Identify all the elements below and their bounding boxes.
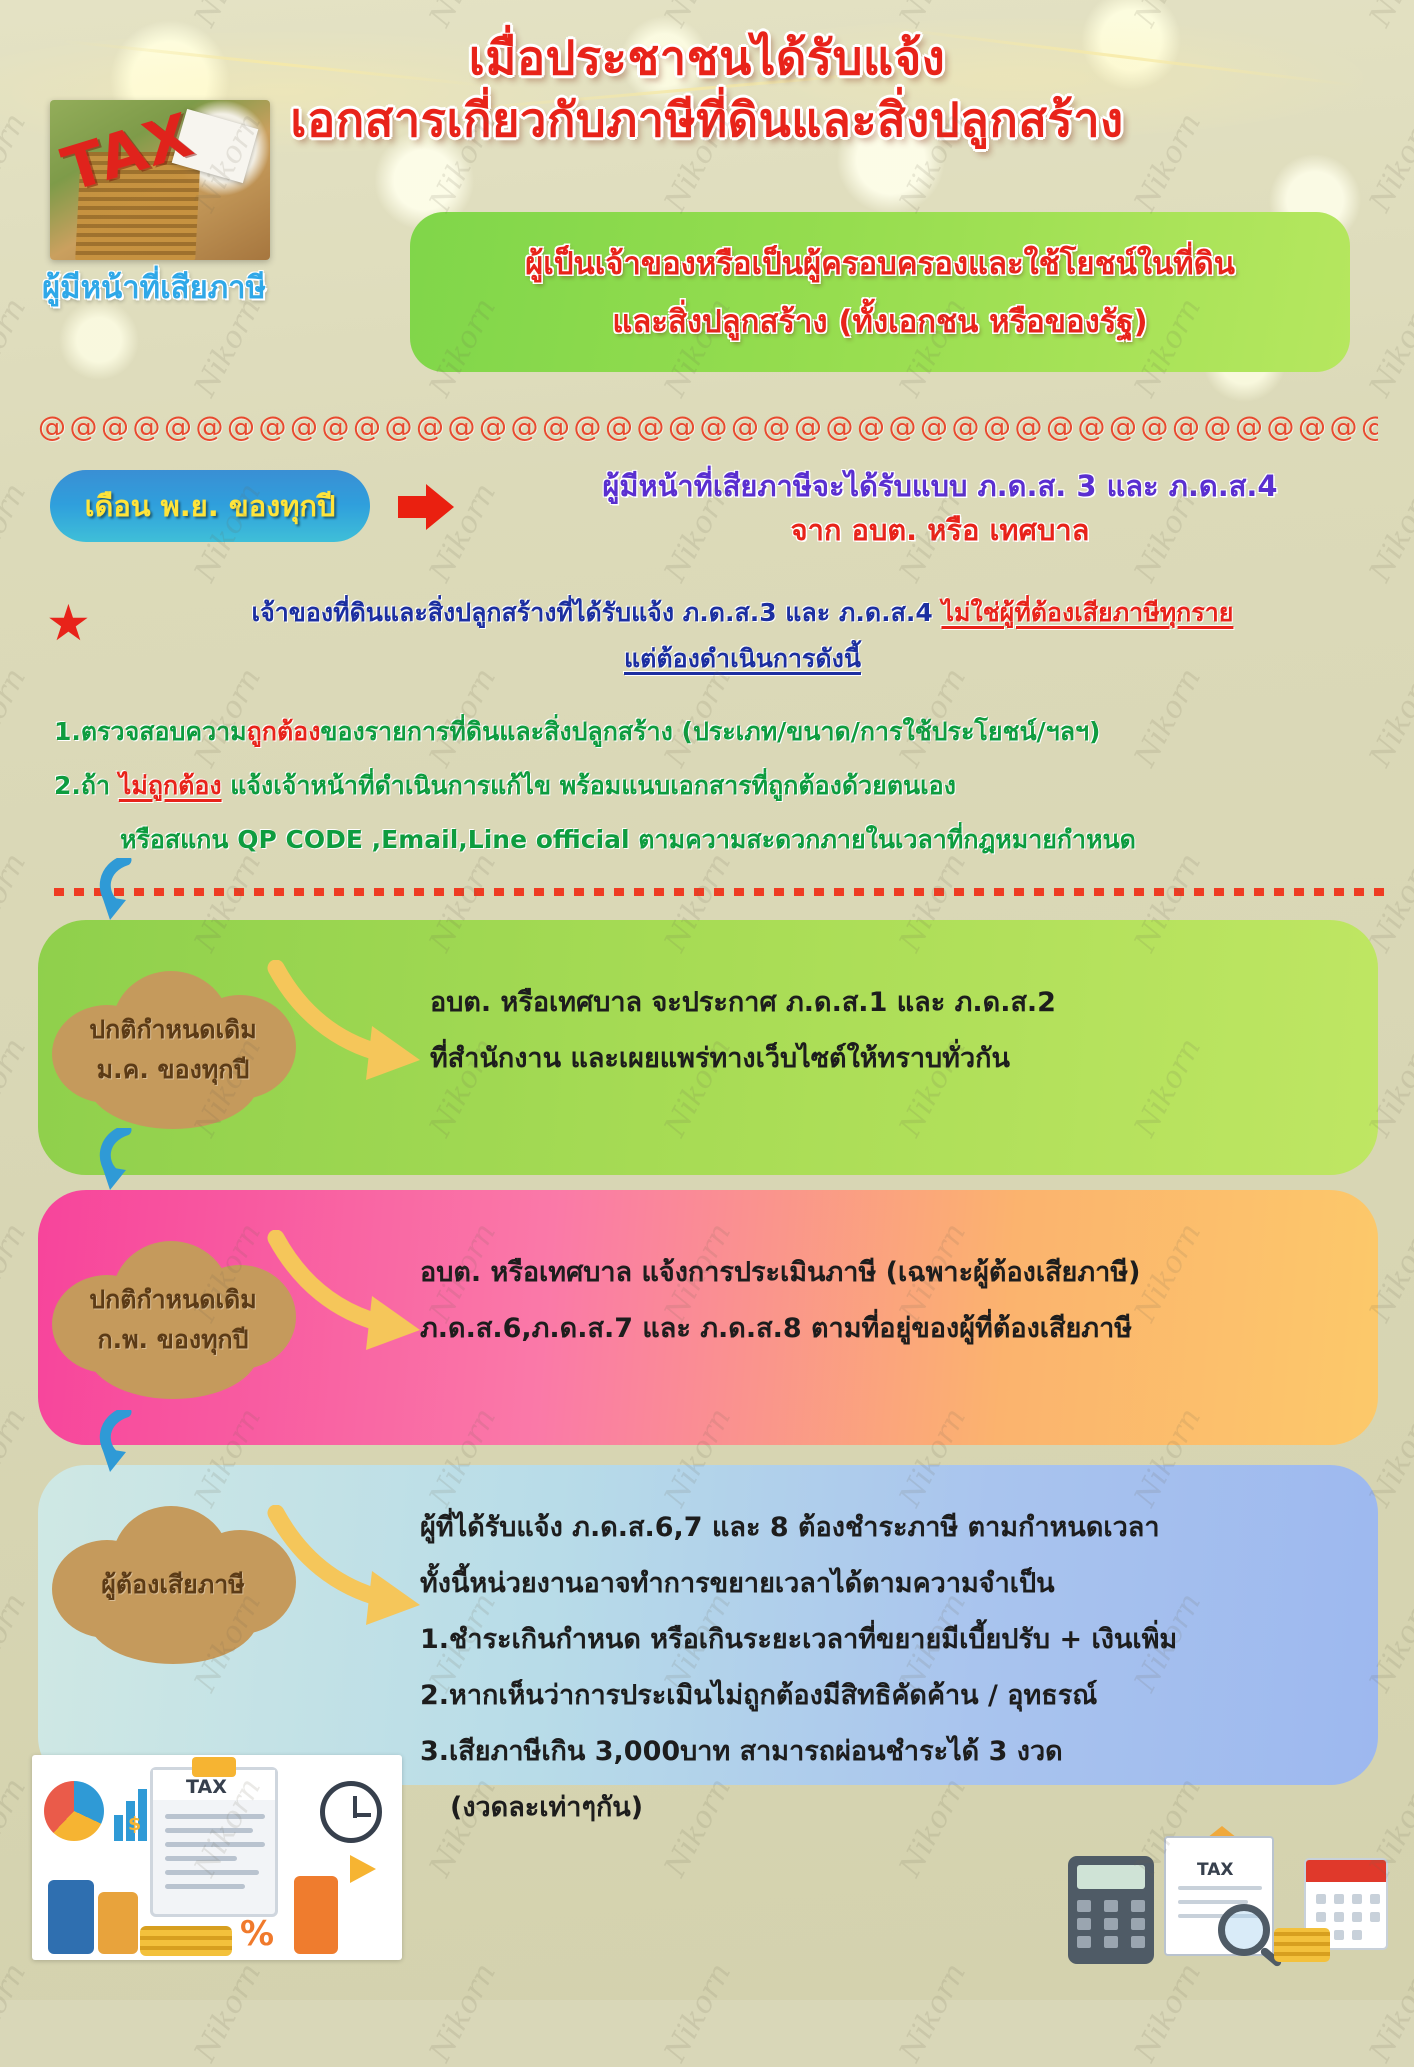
arrow-shaft: [398, 496, 428, 518]
panel-3-line-6: (งวดละเท่าๆกัน): [420, 1780, 1177, 1836]
month-badge: เดือน พ.ย. ของทุกปี: [50, 470, 370, 542]
tax-icon-cluster: TAX: [1068, 1780, 1388, 1970]
purple-notification-line: ผู้มีหน้าที่เสียภาษีจะได้รับแบบ ภ.ด.ส. 3…: [500, 464, 1380, 508]
item1-text-a: 1.ตรวจสอบความ: [54, 717, 247, 746]
blue-arrow-icon-2: [96, 1128, 150, 1194]
page-title-line-1: เมื่อประชาชนได้รับแจ้ง: [0, 28, 1414, 90]
month-badge-label: เดือน พ.ย. ของทุกปี: [85, 483, 336, 529]
person-graphic: [48, 1880, 94, 1954]
coin-pile-graphic: [140, 1926, 232, 1956]
process-panel-2-text: อบต. หรือเทศบาล แจ้งการประเมินภาษี (เฉพา…: [420, 1245, 1140, 1357]
star-icon: ★: [46, 598, 91, 648]
clipboard-tax-label: TAX: [186, 1776, 227, 1798]
percent-symbol: %: [240, 1914, 274, 1954]
panel-3-line-4: 2.หากเห็นว่าการประเมินไม่ถูกต้องมีสิทธิค…: [420, 1668, 1177, 1724]
panel-1-line-2: ที่สำนักงาน และเผยแพร่ทางเว็บไซต์ให้ทราบ…: [430, 1031, 1056, 1087]
pie-chart-graphic: [44, 1781, 104, 1841]
clipboard-graphic: TAX: [150, 1767, 278, 1917]
instruction-item-1: 1.ตรวจสอบความถูกต้องของรายการที่ดินและสิ…: [54, 706, 1100, 758]
calculator-screen: [1077, 1865, 1145, 1889]
cloud-2-line-1: ปกติกำหนดเดิม: [89, 1282, 256, 1318]
clipboard-line: [165, 1884, 245, 1889]
clipboard-line: [165, 1870, 259, 1875]
clipboard-line: [165, 1828, 253, 1833]
calendar-header: [1306, 1860, 1386, 1882]
cloud-2-line-2: ก.พ. ของทุกปี: [97, 1322, 248, 1358]
person-graphic: [98, 1892, 138, 1954]
green-banner: ผู้เป็นเจ้าของหรือเป็นผู้ครอบครองและใช้โ…: [410, 212, 1350, 372]
clipboard-line: [165, 1842, 265, 1847]
clipboard-line: [165, 1856, 237, 1861]
red-authority-line: จาก อบต. หรือ เทศบาล: [500, 508, 1380, 552]
panel-2-line-2: ภ.ด.ส.6,ภ.ด.ส.7 และ ภ.ด.ส.8 ตามที่อยู่ขอ…: [420, 1301, 1140, 1357]
instruction-item-3: หรือสแกน QP CODE ,Email,Line official ตา…: [120, 814, 1136, 866]
blue-arrow-icon-1: [96, 858, 150, 924]
clock-icon: [320, 1781, 382, 1843]
panel-1-line-1: อบต. หรือเทศบาล จะประกาศ ภ.ด.ส.1 และ ภ.ด…: [430, 975, 1056, 1031]
dotted-divider: [54, 888, 1384, 896]
tax-illustration-card: $ TAX %: [32, 1755, 402, 1960]
panel-3-line-5: 3.เสียภาษีเกิน 3,000บาท สามารถผ่อนชำระได…: [420, 1724, 1177, 1780]
magnifier-icon: [1218, 1904, 1270, 1956]
cloud-3-line-1: ผู้ต้องเสียภาษี: [101, 1567, 245, 1603]
star-note-line-1: เจ้าของที่ดินและสิ่งปลูกสร้างที่ได้รับแจ…: [110, 590, 1375, 636]
green-banner-line-1: ผู้เป็นเจ้าของหรือเป็นผู้ครอบครองและใช้โ…: [525, 238, 1235, 288]
month-notification-text: ผู้มีหน้าที่เสียภาษีจะได้รับแบบ ภ.ด.ส. 3…: [500, 464, 1380, 552]
process-panel-1-text: อบต. หรือเทศบาล จะประกาศ ภ.ด.ส.1 และ ภ.ด…: [430, 975, 1056, 1087]
document-tax-label: TAX: [1197, 1860, 1234, 1880]
dollar-symbol: $: [128, 1813, 141, 1835]
star-note-text-highlight: ไม่ใช่ผู้ที่ต้องเสียภาษีทุกราย: [941, 598, 1233, 627]
panel-3-line-3: 1.ชำระเกินกำหนด หรือเกินระยะเวลาที่ขยายม…: [420, 1612, 1177, 1668]
clipboard-clip-icon: [192, 1757, 236, 1777]
item2-text-b: แจ้งเจ้าหน้าที่ดำเนินการแก้ไข พร้อมแนบเอ…: [222, 771, 956, 800]
panel-3-line-2: ทั้งนี้หน่วยงานอาจทำการขยายเวลาได้ตามควา…: [420, 1556, 1177, 1612]
person-graphic: [294, 1876, 338, 1954]
panel-3-line-1: ผู้ที่ได้รับแจ้ง ภ.ด.ส.6,7 และ 8 ต้องชำร…: [420, 1500, 1177, 1556]
cloud-1-line-1: ปกติกำหนดเดิม: [89, 1012, 256, 1048]
taxpayer-label: ผู้มีหน้าที่เสียภาษี: [42, 262, 266, 312]
item2-text-a: 2.ถ้า: [54, 771, 119, 800]
megaphone-icon: [350, 1855, 376, 1883]
tax-photo: TAX: [50, 100, 270, 260]
item1-text-b: ของรายการที่ดินและสิ่งปลูกสร้าง (ประเภท/…: [320, 717, 1100, 746]
blue-arrow-icon-3: [96, 1410, 150, 1476]
green-banner-line-2: และสิ่งปลูกสร้าง (ทั้งเอกชน หรือของรัฐ): [612, 296, 1147, 346]
star-note-text-a: เจ้าของที่ดินและสิ่งปลูกสร้างที่ได้รับแจ…: [252, 598, 942, 627]
item1-highlight: ถูกต้อง: [247, 717, 321, 746]
calculator-icon: [1068, 1856, 1154, 1964]
clipboard-line: [165, 1814, 265, 1819]
at-symbol-divider: @@@@@@@@@@@@@@@@@@@@@@@@@@@@@@@@@@@@@@@@…: [38, 410, 1378, 443]
panel-2-line-1: อบต. หรือเทศบาล แจ้งการประเมินภาษี (เฉพา…: [420, 1245, 1140, 1301]
coin-stack-icon: [1274, 1928, 1330, 1962]
cloud-1-line-2: ม.ค. ของทุกปี: [97, 1052, 250, 1088]
instruction-item-2: 2.ถ้า ไม่ถูกต้อง แจ้งเจ้าหน้าที่ดำเนินกา…: [54, 760, 956, 812]
process-panel-3-text: ผู้ที่ได้รับแจ้ง ภ.ด.ส.6,7 และ 8 ต้องชำร…: [420, 1500, 1177, 1836]
star-note-line-2: แต่ต้องดำเนินการดังนี้: [110, 636, 1375, 682]
item2-highlight: ไม่ถูกต้อง: [119, 771, 222, 800]
arrow-head: [426, 484, 454, 530]
